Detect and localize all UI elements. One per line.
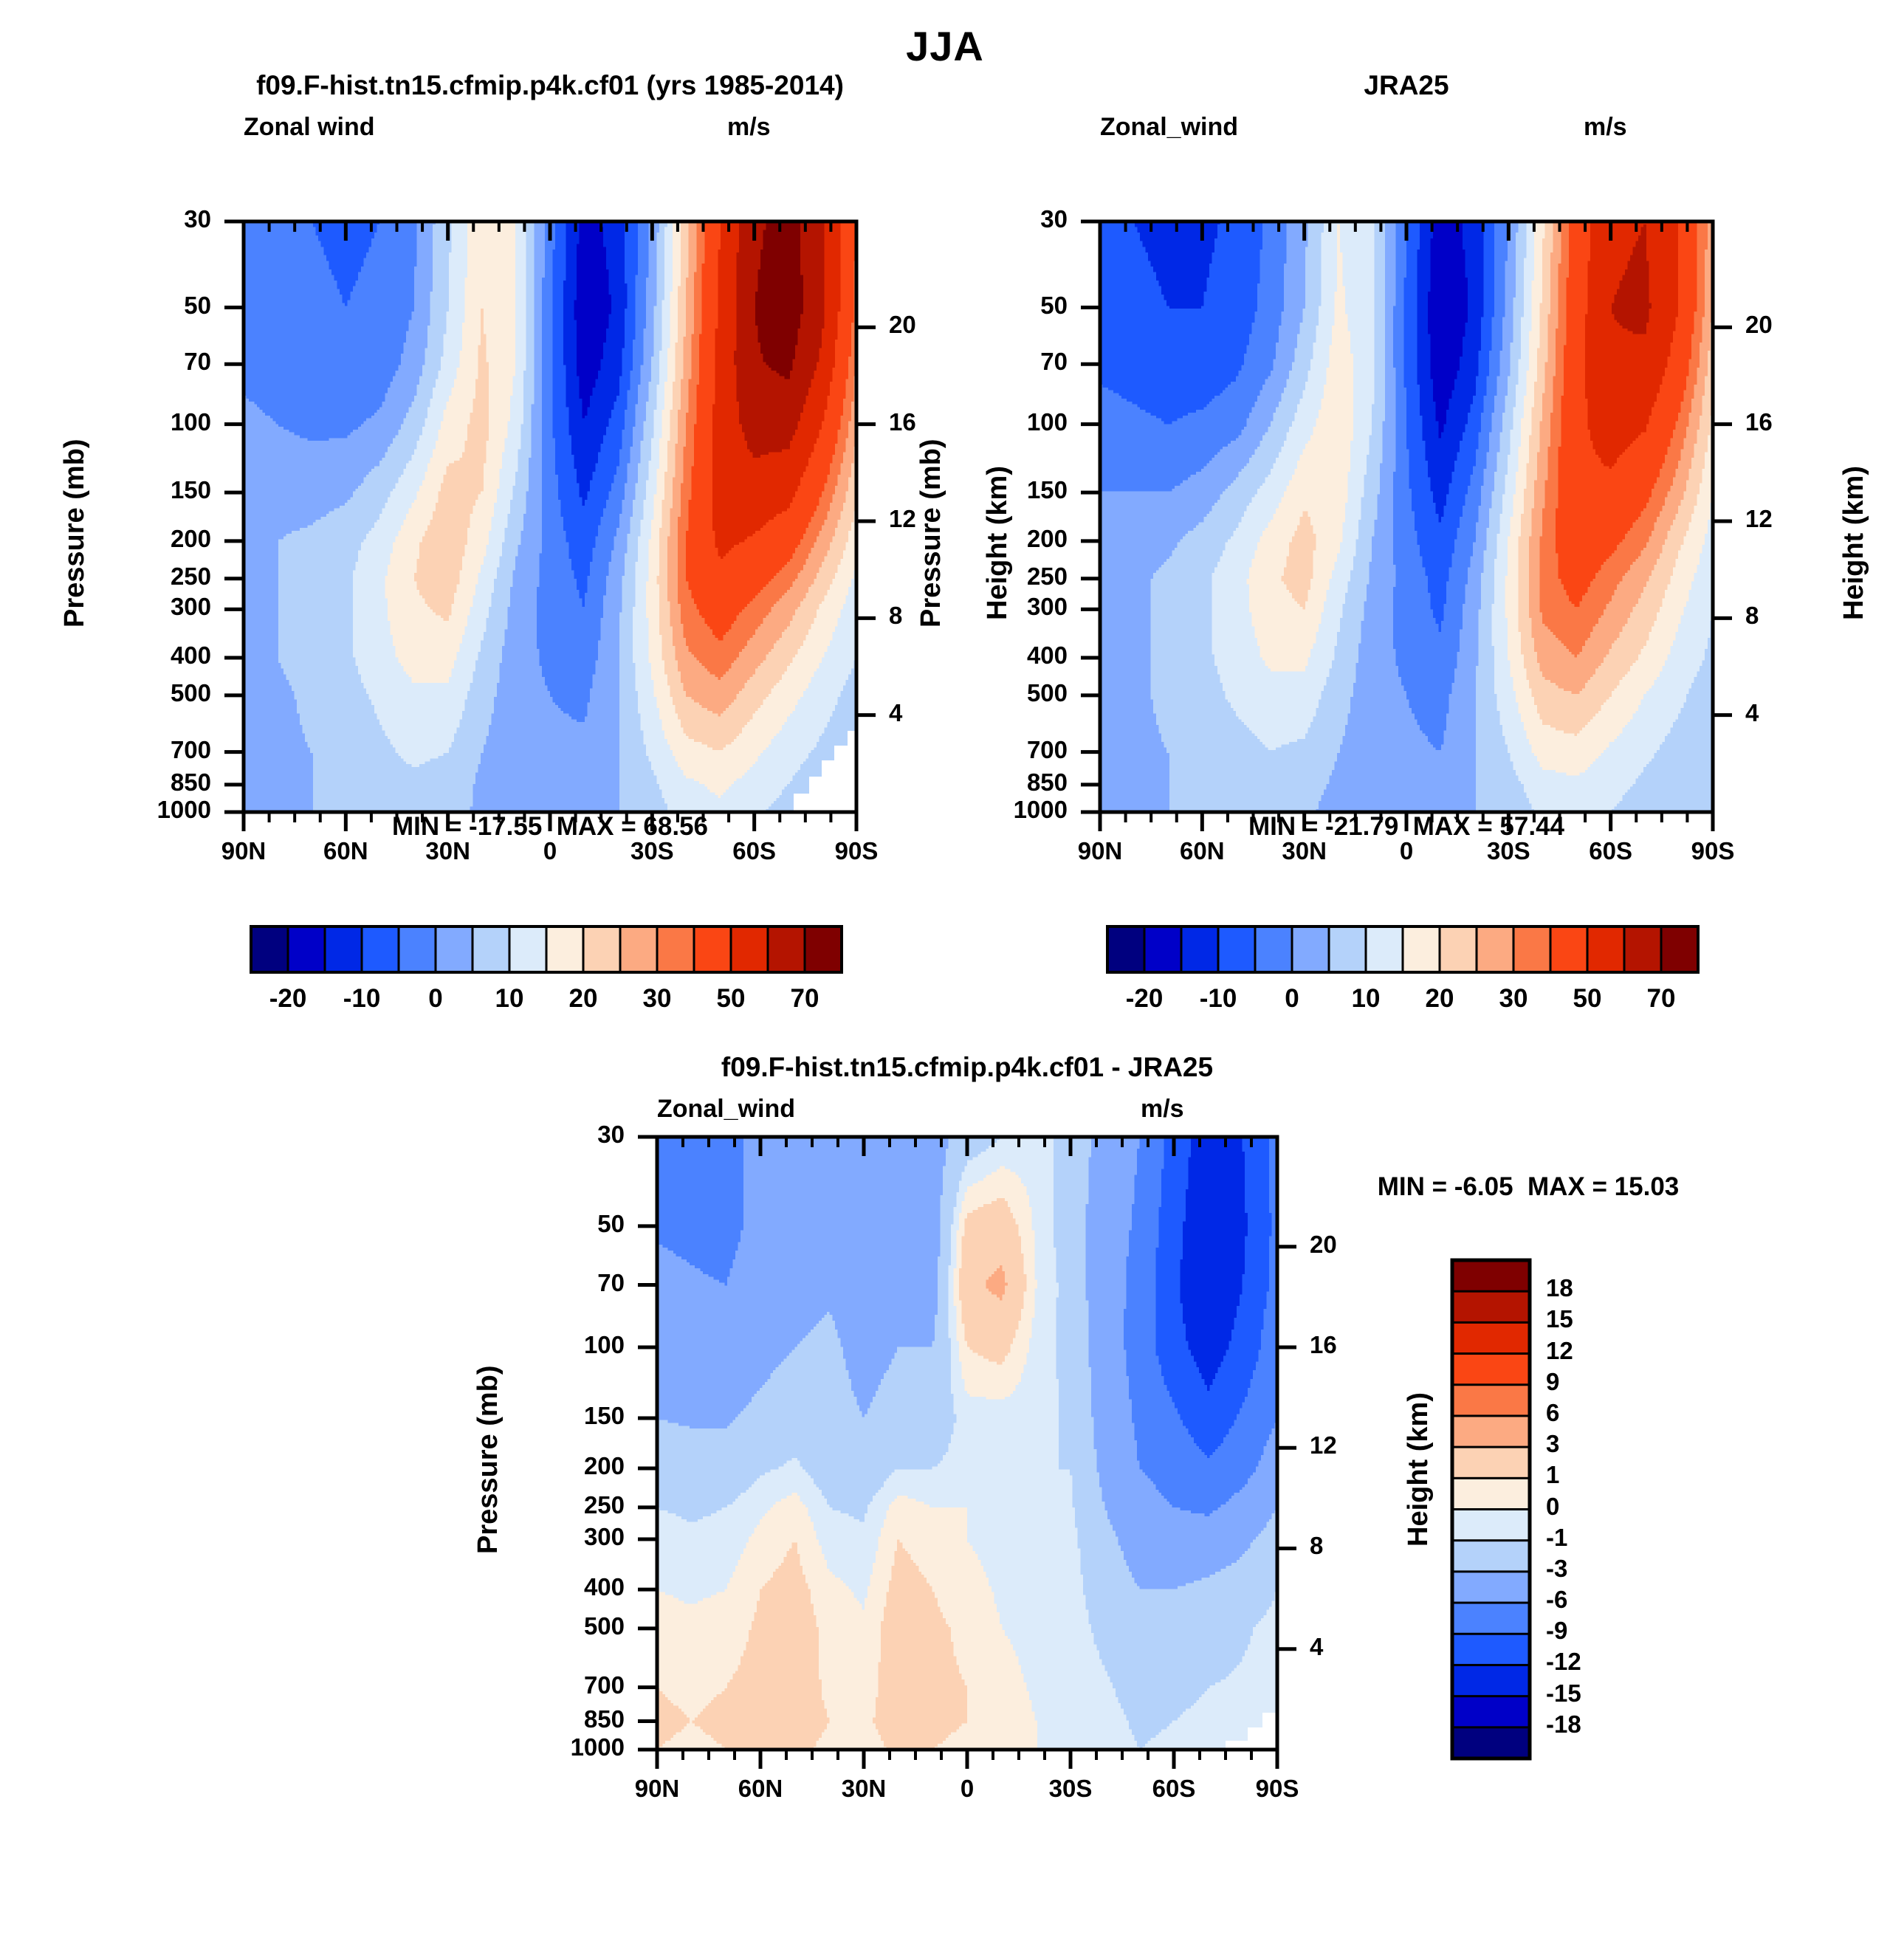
colorbar-label-diff-9: -3 — [1546, 1555, 1567, 1583]
y2-tick-diff-4: 4 — [1310, 1633, 1323, 1661]
y-tick-diff-700: 700 — [492, 1671, 625, 1699]
y-tick-diff-150: 150 — [492, 1402, 625, 1430]
y-tick-model-150: 150 — [78, 476, 211, 504]
y-tick-diff-30: 30 — [492, 1121, 625, 1149]
colorbar-label-diff-13: -15 — [1546, 1679, 1581, 1708]
y-tick-model-300: 300 — [78, 593, 211, 621]
y-tick-obs-250: 250 — [935, 563, 1068, 591]
y-tick-model-70: 70 — [78, 348, 211, 376]
min-value-model: MIN = -17.55 — [392, 812, 542, 841]
y-tick-model-700: 700 — [78, 736, 211, 764]
y-tick-diff-200: 200 — [492, 1452, 625, 1480]
y-tick-model-30: 30 — [78, 205, 211, 233]
y-tick-obs-1000: 1000 — [935, 796, 1068, 824]
minmax-obs: MIN = -21.79 MAX = 57.44 — [1100, 812, 1713, 842]
y2-tick-model-8: 8 — [889, 602, 902, 630]
y2-axis-title-diff: Height (km) — [1403, 1392, 1434, 1547]
y-tick-diff-50: 50 — [492, 1210, 625, 1238]
y-tick-obs-850: 850 — [935, 768, 1068, 797]
units-label-model: m/s — [727, 113, 771, 142]
y-tick-obs-200: 200 — [935, 525, 1068, 553]
y2-tick-obs-8: 8 — [1745, 602, 1759, 630]
y-tick-obs-30: 30 — [935, 205, 1068, 233]
x-tick-diff-6: 90S — [1211, 1775, 1344, 1803]
colorbar-label-diff-5: 3 — [1546, 1430, 1559, 1458]
y-tick-diff-1000: 1000 — [492, 1733, 625, 1761]
variable-label-obs: Zonal_wind — [1100, 113, 1238, 142]
variable-label-model: Zonal wind — [244, 113, 375, 142]
y-tick-model-50: 50 — [78, 292, 211, 320]
y-tick-obs-70: 70 — [935, 348, 1068, 376]
colorbar-label-obs-7: 70 — [1602, 984, 1720, 1014]
max-value-diff: MAX = 15.03 — [1528, 1172, 1679, 1201]
colorbar-label-diff-4: 6 — [1546, 1399, 1559, 1427]
y-tick-diff-70: 70 — [492, 1269, 625, 1297]
colorbar-model: -20-1001020305070 — [251, 926, 842, 1039]
min-value-diff: MIN = -6.05 — [1378, 1172, 1513, 1201]
colorbar-label-model-7: 70 — [746, 984, 864, 1014]
y-axis-title-diff: Pressure (mb) — [472, 1365, 504, 1554]
colorbar-label-diff-2: 12 — [1546, 1337, 1573, 1365]
colorbar-label-diff-1: 15 — [1546, 1305, 1573, 1333]
y2-tick-diff-20: 20 — [1310, 1231, 1337, 1259]
y-tick-model-850: 850 — [78, 768, 211, 797]
y-tick-diff-500: 500 — [492, 1612, 625, 1640]
figure-title: JJA — [0, 22, 1890, 70]
y-tick-model-400: 400 — [78, 642, 211, 670]
y-tick-obs-400: 400 — [935, 642, 1068, 670]
y2-tick-obs-16: 16 — [1745, 408, 1773, 436]
variable-label-diff: Zonal_wind — [657, 1095, 795, 1124]
y-tick-diff-400: 400 — [492, 1573, 625, 1601]
y2-tick-model-20: 20 — [889, 311, 916, 339]
units-label-diff: m/s — [1141, 1095, 1184, 1124]
y-tick-obs-300: 300 — [935, 593, 1068, 621]
y-tick-diff-850: 850 — [492, 1705, 625, 1733]
plot-area-diff — [657, 1137, 1469, 1846]
minmax-model: MIN = -17.55 MAX = 68.56 — [244, 812, 856, 842]
max-value-obs: MAX = 57.44 — [1413, 812, 1564, 841]
y2-tick-obs-4: 4 — [1745, 699, 1759, 727]
panel-title-diff: f09.F-hist.tn15.cfmip.p4k.cf01 - JRA25 — [657, 1052, 1277, 1083]
y-tick-model-1000: 1000 — [78, 796, 211, 824]
minmax-diff-standalone: MIN = -6.05 MAX = 15.03 — [1322, 1172, 1735, 1202]
min-value-obs: MIN = -21.79 — [1248, 812, 1398, 841]
y-tick-obs-500: 500 — [935, 679, 1068, 707]
y-tick-obs-100: 100 — [935, 408, 1068, 436]
y-tick-obs-150: 150 — [935, 476, 1068, 504]
y2-tick-diff-8: 8 — [1310, 1532, 1323, 1560]
panel-obs: JRA25Zonal_windm/s3050701001502002503004… — [1100, 70, 1890, 956]
colorbar-label-diff-8: -1 — [1546, 1524, 1567, 1552]
y-axis-title-obs: Pressure (mb) — [915, 439, 947, 627]
colorbar-label-diff-11: -9 — [1546, 1617, 1567, 1645]
y-tick-model-200: 200 — [78, 525, 211, 553]
colorbar-label-diff-10: -6 — [1546, 1586, 1567, 1614]
y2-axis-title-obs: Height (km) — [1838, 466, 1870, 620]
colorbar-swatches-obs — [1107, 926, 1698, 972]
colorbar-label-diff-7: 0 — [1546, 1493, 1559, 1521]
colorbar-label-diff-6: 1 — [1546, 1461, 1559, 1489]
y2-tick-model-4: 4 — [889, 699, 902, 727]
y-tick-model-100: 100 — [78, 408, 211, 436]
colorbar-swatches-model — [251, 926, 842, 972]
figure-root: JJA f09.F-hist.tn15.cfmip.p4k.cf01 (yrs … — [0, 0, 1890, 1790]
y2-tick-diff-16: 16 — [1310, 1331, 1337, 1359]
y2-tick-diff-12: 12 — [1310, 1431, 1337, 1459]
colorbar-diff: 18151296310-1-3-6-9-12-15-18 — [1451, 1259, 1676, 1757]
y-tick-model-500: 500 — [78, 679, 211, 707]
y2-tick-obs-20: 20 — [1745, 311, 1773, 339]
colorbar-swatches-diff — [1451, 1259, 1531, 1760]
y-tick-diff-250: 250 — [492, 1491, 625, 1519]
colorbar-label-diff-12: -12 — [1546, 1648, 1581, 1676]
panel-title-obs: JRA25 — [1100, 70, 1713, 101]
colorbar-label-diff-3: 9 — [1546, 1368, 1559, 1396]
y2-tick-model-12: 12 — [889, 505, 916, 533]
y-tick-diff-100: 100 — [492, 1331, 625, 1359]
units-label-obs: m/s — [1584, 113, 1627, 142]
y-tick-obs-700: 700 — [935, 736, 1068, 764]
colorbar-label-diff-0: 18 — [1546, 1274, 1573, 1302]
panel-title-model: f09.F-hist.tn15.cfmip.p4k.cf01 (yrs 1985… — [244, 70, 856, 101]
colorbar-obs: -20-1001020305070 — [1107, 926, 1698, 1039]
y2-tick-model-16: 16 — [889, 408, 916, 436]
colorbar-label-diff-14: -18 — [1546, 1710, 1581, 1739]
max-value-model: MAX = 68.56 — [557, 812, 708, 841]
y-tick-diff-300: 300 — [492, 1523, 625, 1551]
y-tick-model-250: 250 — [78, 563, 211, 591]
y-tick-obs-50: 50 — [935, 292, 1068, 320]
y2-tick-obs-12: 12 — [1745, 505, 1773, 533]
y-axis-title-model: Pressure (mb) — [59, 439, 91, 627]
